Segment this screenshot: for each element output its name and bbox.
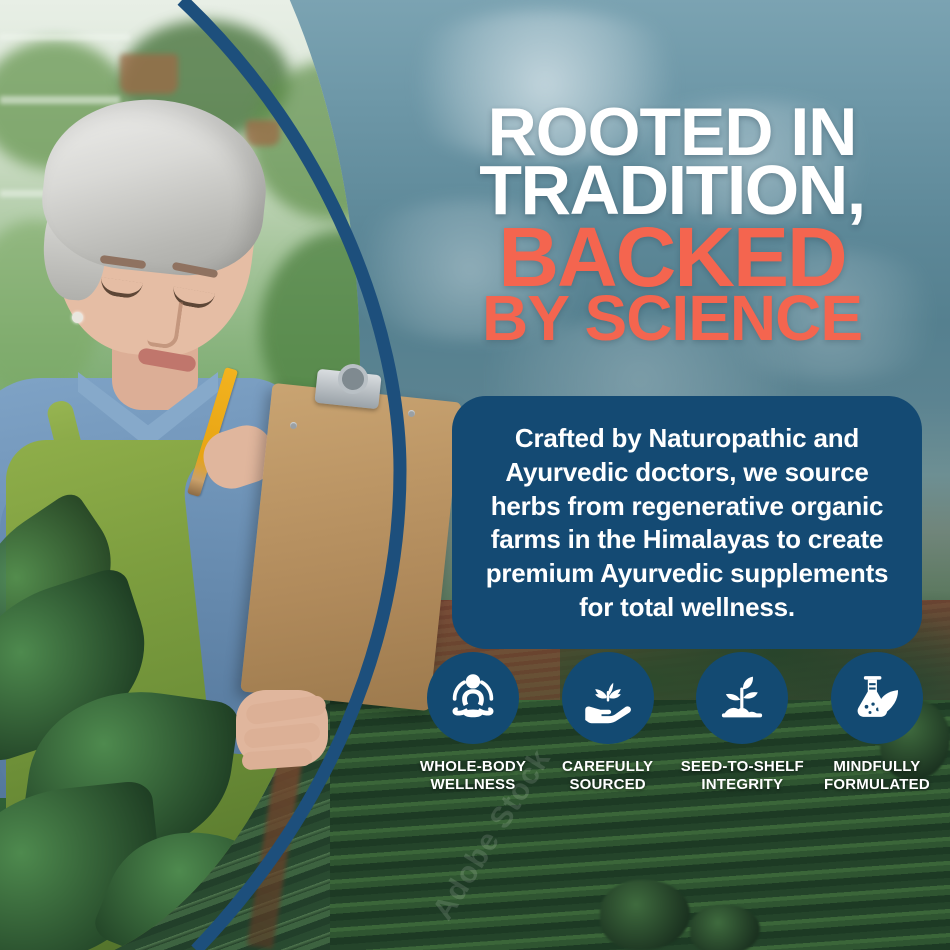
feature-label: WHOLE-BODY WELLNESS (410, 758, 536, 793)
feature-icon-circle (696, 652, 788, 744)
meditation-lotus-icon (445, 670, 501, 726)
feature-label: MINDFULLY FORMULATED (814, 758, 940, 793)
clipboard-rivet (408, 410, 415, 417)
feature-icon-circle (427, 652, 519, 744)
clipboard-rivet (290, 422, 297, 429)
promotional-poster: Adobe Stock ROOTED IN TRADITION, BACKED … (0, 0, 950, 950)
hand-holding-plant-icon (580, 670, 636, 726)
description-panel: Crafted by Naturopathic and Ayurvedic do… (452, 396, 922, 649)
feature-item-seed-to-shelf-integrity[interactable]: SEED-TO-SHELF INTEGRITY (679, 652, 805, 793)
shrub (690, 905, 760, 950)
feature-item-carefully-sourced[interactable]: CAREFULLY SOURCED (545, 652, 671, 793)
feature-item-whole-body-wellness[interactable]: WHOLE-BODY WELLNESS (410, 652, 536, 793)
page-title: ROOTED IN TRADITION, BACKED BY SCIENCE (412, 104, 932, 346)
seedling-sprout-icon (714, 670, 770, 726)
feature-item-mindfully-formulated[interactable]: MINDFULLY FORMULATED (814, 652, 940, 793)
feature-label: SEED-TO-SHELF INTEGRITY (679, 758, 805, 793)
feature-label: CAREFULLY SOURCED (545, 758, 671, 793)
headline-line-4: BY SCIENCE (412, 292, 932, 346)
flask-leaf-icon (849, 670, 905, 726)
earring (72, 312, 83, 323)
feature-icon-circle (831, 652, 923, 744)
feature-badges-row: WHOLE-BODY WELLNESS CAREFULLY SOURCED (410, 652, 940, 793)
feature-icon-circle (562, 652, 654, 744)
